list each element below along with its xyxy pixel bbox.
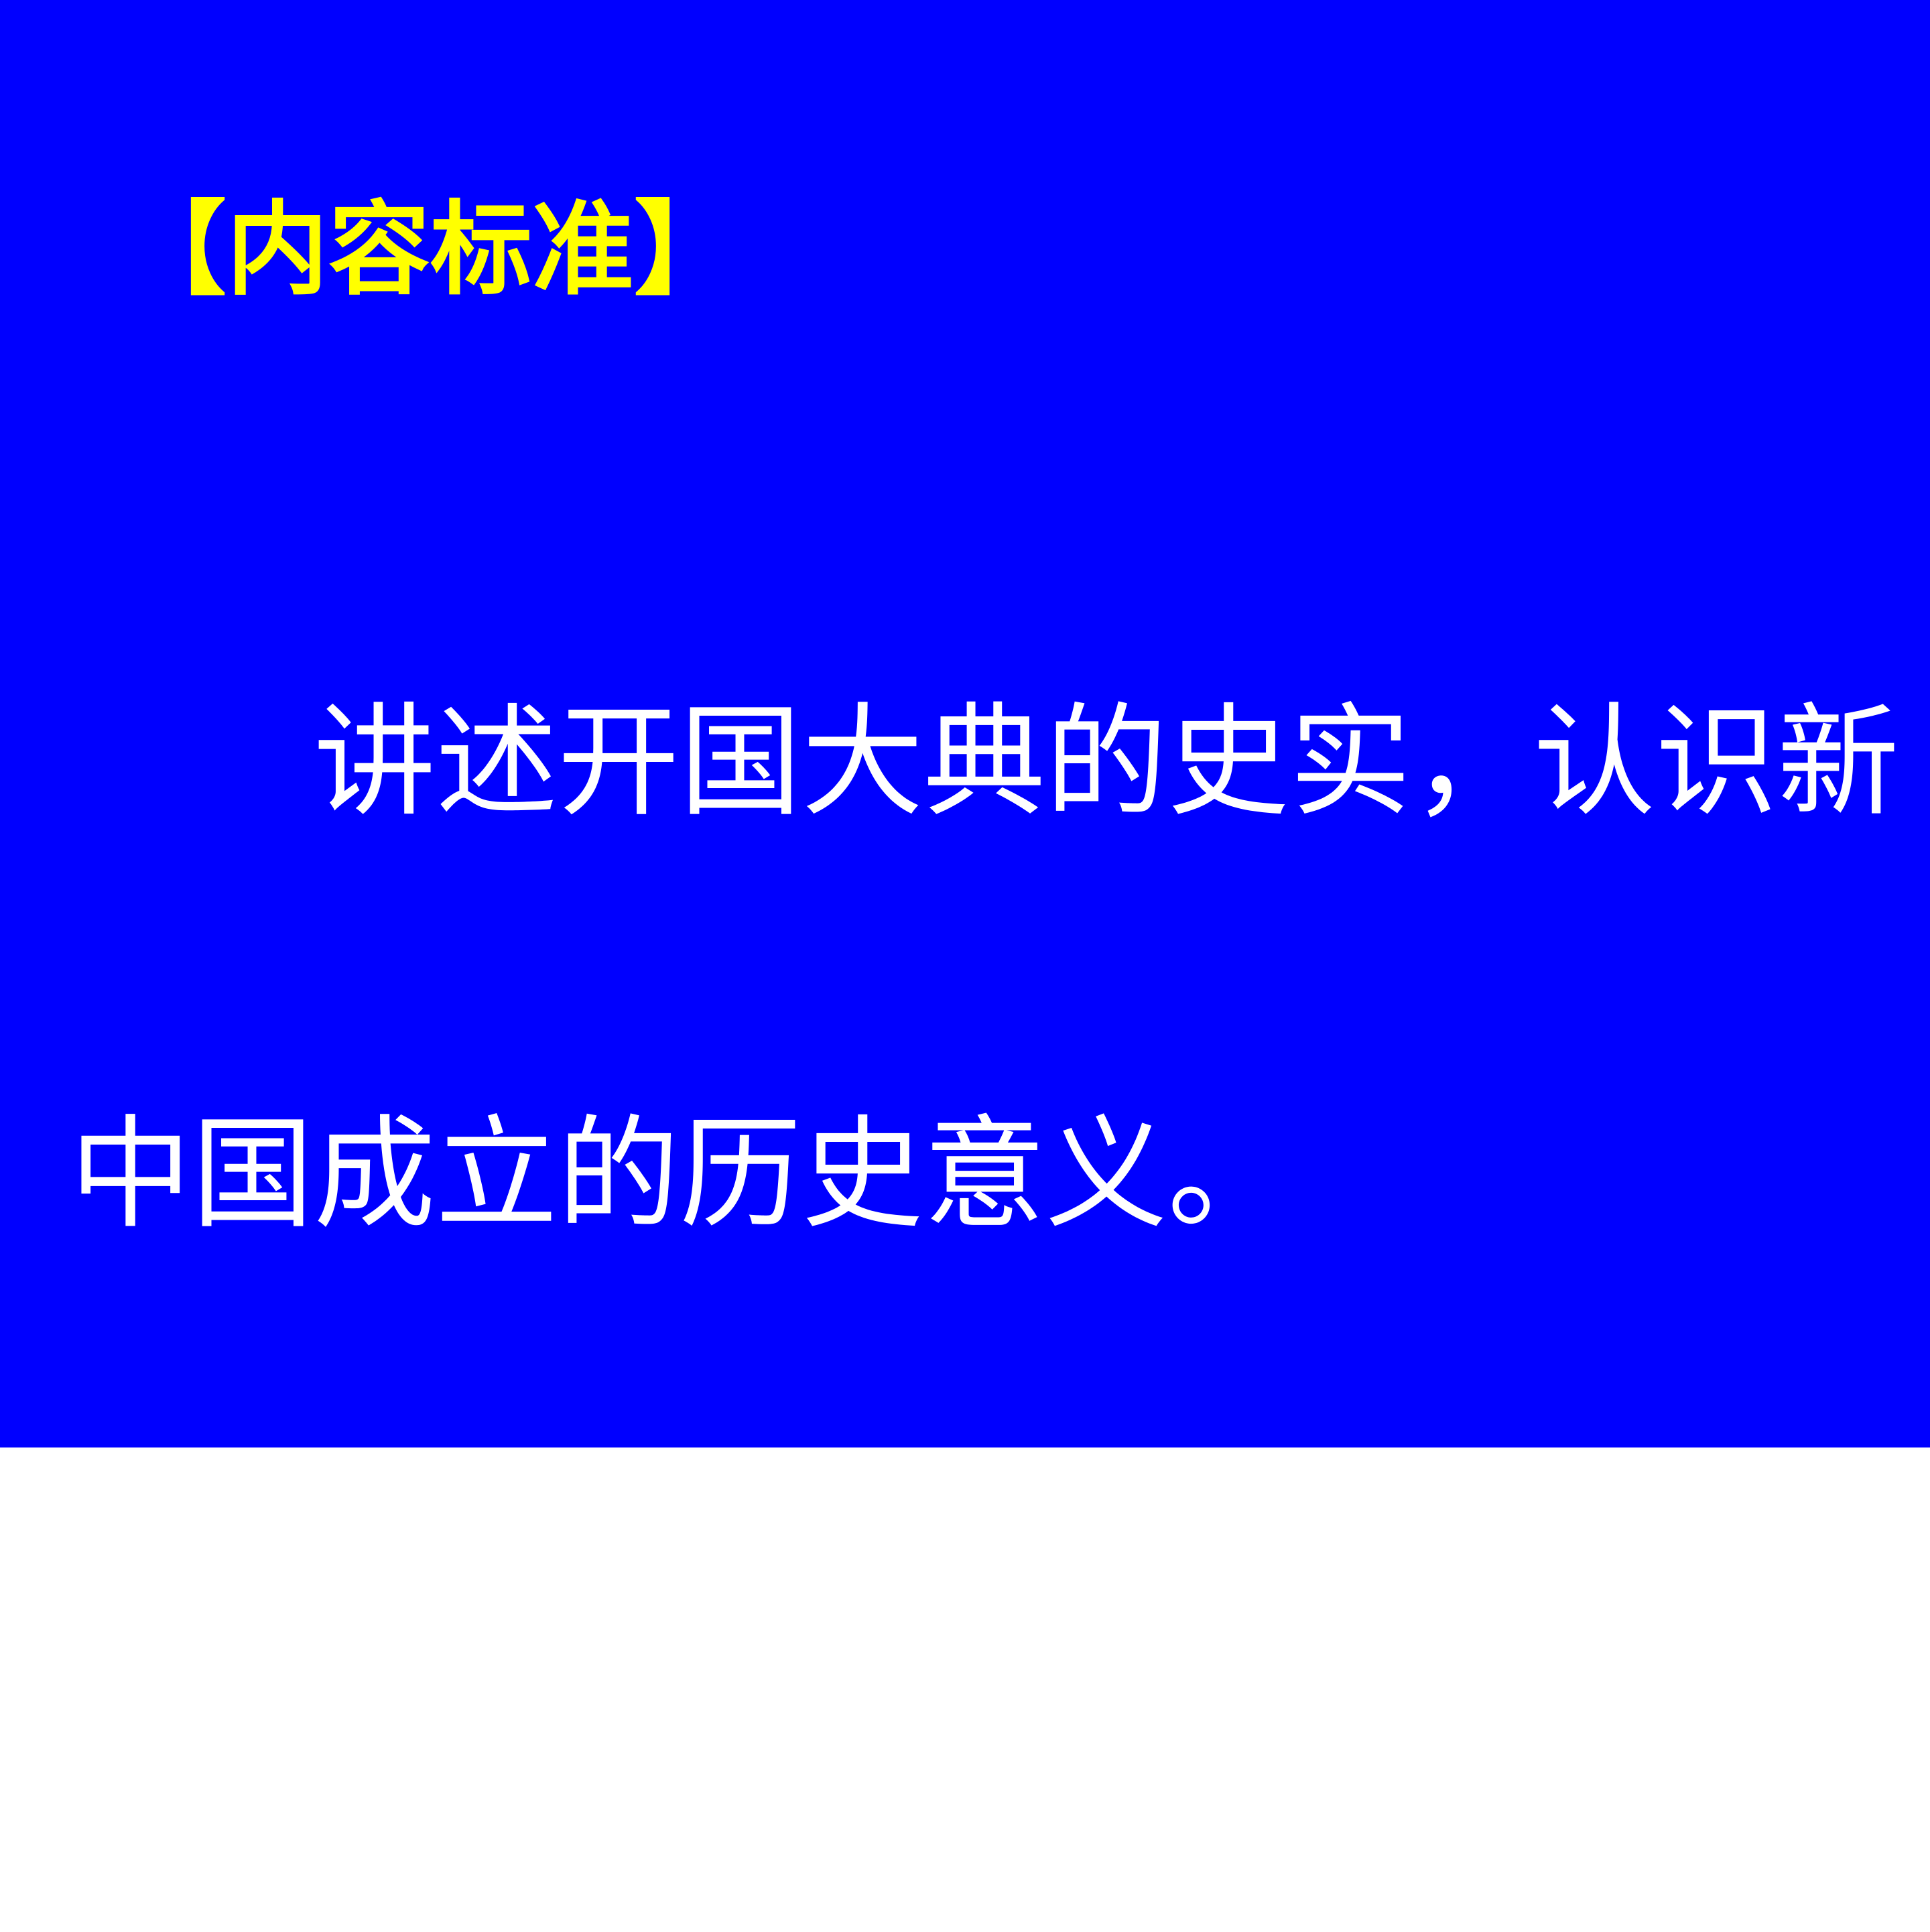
body-line-3: 简述西藏和平解放的基本史实。 <box>70 1518 1906 1655</box>
body-line-2: 中国成立的历史意义。 <box>70 1106 1906 1243</box>
body-line-1: 讲述开国大典的史实，认识新 <box>70 694 1906 831</box>
slide-body-text: 讲述开国大典的史实，认识新 中国成立的历史意义。 简述西藏和平解放的基本史实。 <box>70 419 1906 1930</box>
page-title: 【内容标准】 <box>125 192 736 309</box>
presentation-slide: 【内容标准】 讲述开国大典的史实，认识新 中国成立的历史意义。 简述西藏和平解放… <box>0 0 1930 1447</box>
